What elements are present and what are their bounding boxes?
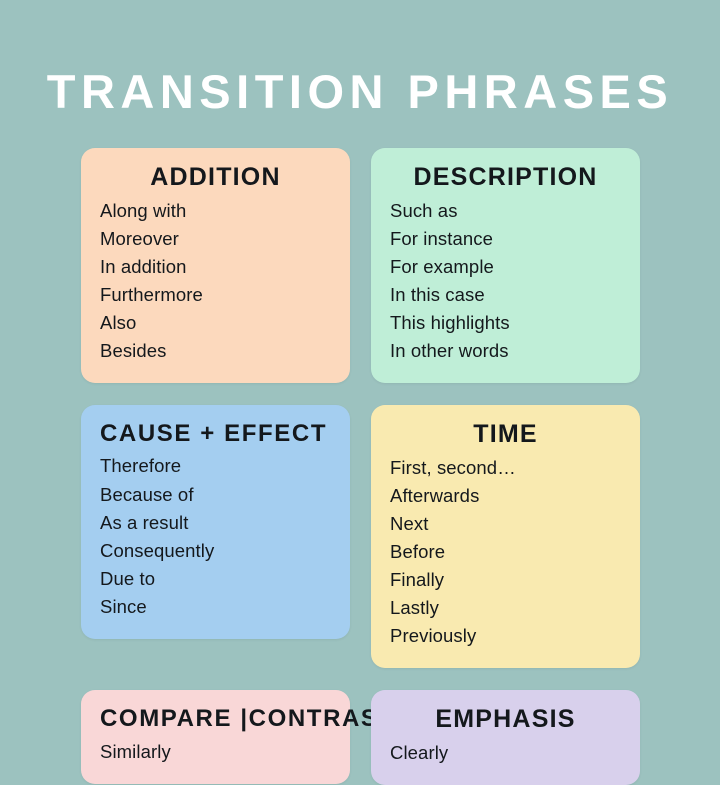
list-item: Consequently	[100, 537, 331, 565]
card-title-emphasis: EMPHASIS	[390, 704, 621, 736]
list-item: Before	[390, 538, 621, 566]
list-item: For instance	[390, 225, 621, 253]
card-addition: ADDITION Along with Moreover In addition…	[81, 148, 350, 383]
card-title-time: TIME	[390, 419, 621, 451]
card-compare-contrast: COMPARE |CONTRAST Similarly	[81, 690, 350, 783]
card-list-compare-contrast: Similarly	[100, 738, 331, 766]
card-list-description: Such as For instance For example In this…	[390, 197, 621, 366]
list-item: For example	[390, 253, 621, 281]
list-item: Similarly	[100, 738, 331, 766]
list-item: Lastly	[390, 594, 621, 622]
list-item: Because of	[100, 481, 331, 509]
card-title-addition: ADDITION	[100, 162, 331, 194]
card-time: TIME First, second… Afterwards Next Befo…	[371, 405, 640, 668]
list-item: Therefore	[100, 452, 331, 480]
cards-grid: ADDITION Along with Moreover In addition…	[81, 148, 640, 785]
card-cause-effect: CAUSE + EFFECT Therefore Because of As a…	[81, 405, 350, 639]
card-list-addition: Along with Moreover In addition Furtherm…	[100, 197, 331, 366]
transition-phrases-poster: TRANSITION PHRASES ADDITION Along with M…	[0, 0, 720, 720]
list-item: Besides	[100, 337, 331, 365]
list-item: Moreover	[100, 225, 331, 253]
list-item: Due to	[100, 565, 331, 593]
list-item: Next	[390, 510, 621, 538]
list-item: As a result	[100, 509, 331, 537]
list-item: Along with	[100, 197, 331, 225]
list-item: Clearly	[390, 739, 621, 767]
card-list-cause-effect: Therefore Because of As a result Consequ…	[100, 452, 331, 621]
page-title: TRANSITION PHRASES	[0, 68, 720, 115]
list-item: Also	[100, 309, 331, 337]
list-item: Finally	[390, 566, 621, 594]
card-title-cause-effect: CAUSE + EFFECT	[100, 419, 331, 449]
list-item: In addition	[100, 253, 331, 281]
list-item: Furthermore	[100, 281, 331, 309]
card-title-description: DESCRIPTION	[390, 162, 621, 194]
card-list-emphasis: Clearly	[390, 739, 621, 767]
card-emphasis: EMPHASIS Clearly	[371, 690, 640, 785]
list-item: This highlights	[390, 309, 621, 337]
list-item: Previously	[390, 622, 621, 650]
list-item: In other words	[390, 337, 621, 365]
list-item: Afterwards	[390, 482, 621, 510]
list-item: First, second…	[390, 454, 621, 482]
card-list-time: First, second… Afterwards Next Before Fi…	[390, 454, 621, 651]
list-item: Such as	[390, 197, 621, 225]
list-item: In this case	[390, 281, 621, 309]
list-item: Since	[100, 593, 331, 621]
card-description: DESCRIPTION Such as For instance For exa…	[371, 148, 640, 383]
